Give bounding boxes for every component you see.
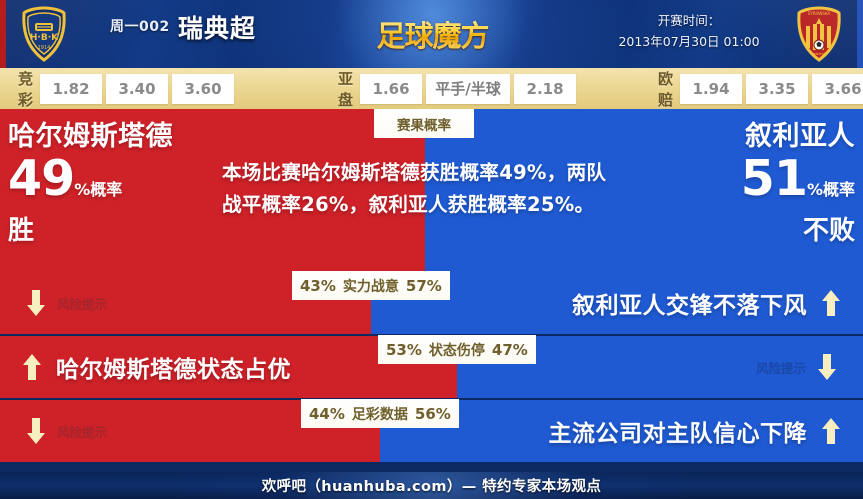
row-metric-chip: 43%实力战意57% bbox=[292, 271, 450, 300]
row-home-percent: 43% bbox=[300, 277, 336, 295]
odds-cell-asian-handicap[interactable]: 平手/半球 bbox=[426, 74, 510, 104]
odds-cell-euro-home[interactable]: 1.94 bbox=[680, 74, 742, 104]
home-outcome-label: 胜 bbox=[8, 216, 230, 247]
row-home-percent: 44% bbox=[309, 405, 345, 423]
league-name: 瑞典超 bbox=[178, 9, 256, 45]
odds-cell-asian-home[interactable]: 1.66 bbox=[360, 74, 422, 104]
home-probability-summary: 哈尔姆斯塔德 49%概率 胜 bbox=[8, 121, 230, 247]
row-risk-label: 风险提示 bbox=[57, 422, 107, 441]
footer-credit-text: 欢呼吧（huanhuba.com）— 特约专家本场观点 bbox=[262, 475, 602, 496]
home-team-name: 哈尔姆斯塔德 bbox=[8, 121, 230, 153]
home-team-crest-icon: H·B·K 1914 bbox=[14, 4, 74, 64]
away-outcome-label: 不败 bbox=[633, 216, 855, 247]
risk-arrow-down-icon bbox=[26, 288, 46, 318]
kickoff-time-value: 2013年07月30日 01:00 bbox=[596, 31, 782, 52]
away-team-crest-icon: SYRIANSKA Sodertalje bbox=[789, 4, 849, 64]
row-risk-note: 风险提示 bbox=[756, 336, 837, 398]
away-probability-summary: 叙利亚人 51%概率 不败 bbox=[633, 121, 855, 247]
away-probability-suffix: %概率 bbox=[807, 180, 855, 199]
match-round-label: 周一002 bbox=[110, 16, 170, 36]
odds-group-title: 欧赔 bbox=[658, 68, 673, 110]
home-probability-value: 49%概率 bbox=[8, 153, 230, 216]
footer-bar: 欢呼吧（huanhuba.com）— 特约专家本场观点 bbox=[0, 472, 863, 499]
odds-cell-euro-draw[interactable]: 3.35 bbox=[746, 74, 808, 104]
odds-group-asian: 亚盘 1.66 平手/半球 2.18 bbox=[338, 68, 580, 109]
row-away-percent: 47% bbox=[492, 341, 528, 359]
row-risk-note: 风险提示 bbox=[26, 400, 107, 462]
row-metric-chip: 44%足彩数据56% bbox=[301, 399, 459, 428]
row-verdict-text: 主流公司对主队信心下降 bbox=[549, 414, 808, 448]
home-probability-number: 49 bbox=[8, 150, 74, 207]
comparison-row: 53%状态伤停47%哈尔姆斯塔德状态占优风险提示 bbox=[0, 336, 863, 398]
odds-cell-jingcai-away[interactable]: 3.60 bbox=[172, 74, 234, 104]
row-away-percent: 57% bbox=[406, 277, 442, 295]
away-probability-number: 51 bbox=[741, 150, 807, 207]
row-metric-chip: 53%状态伤停47% bbox=[378, 335, 536, 364]
row-risk-note: 风险提示 bbox=[26, 272, 107, 334]
match-preview-graphic: H·B·K 1914 SYRIANSKA Sodertalje 周一00 bbox=[0, 0, 863, 499]
odds-group-euro: 欧赔 1.94 3.35 3.66 bbox=[658, 68, 863, 109]
svg-text:Sodertalje: Sodertalje bbox=[810, 52, 828, 56]
kickoff-time-label: 开赛时间： bbox=[596, 10, 782, 31]
row-risk-label: 风险提示 bbox=[57, 294, 107, 313]
comparison-rows: 43%实力战意57%叙利亚人交锋不落下风风险提示53%状态伤停47%哈尔姆斯塔德… bbox=[0, 272, 863, 472]
odds-group-title: 竞彩 bbox=[18, 68, 33, 110]
away-probability-value: 51%概率 bbox=[633, 153, 855, 216]
site-brand-text: 足球魔方 bbox=[376, 13, 488, 55]
header-left-edge bbox=[0, 0, 6, 68]
row-metric-name: 足彩数据 bbox=[352, 404, 408, 424]
row-verdict-message: 叙利亚人交锋不落下风 bbox=[572, 272, 841, 334]
risk-arrow-down-icon bbox=[26, 416, 46, 446]
band-section-chip: 赛果概率 bbox=[374, 109, 474, 138]
odds-group-jingcai: 竞彩 1.82 3.40 3.60 bbox=[18, 68, 238, 109]
odds-cell-jingcai-home[interactable]: 1.82 bbox=[40, 74, 102, 104]
probability-description: 本场比赛哈尔姆斯塔德获胜概率49%，两队战平概率26%，叙利亚人获胜概率25%。 bbox=[222, 157, 622, 221]
odds-group-title: 亚盘 bbox=[338, 68, 353, 110]
svg-text:1914: 1914 bbox=[38, 45, 51, 51]
odds-cell-jingcai-draw[interactable]: 3.40 bbox=[106, 74, 168, 104]
odds-bar: 竞彩 1.82 3.40 3.60 亚盘 1.66 平手/半球 2.18 欧赔 … bbox=[0, 68, 863, 109]
odds-cell-euro-away[interactable]: 3.66 bbox=[812, 74, 863, 104]
row-verdict-text: 叙利亚人交锋不落下风 bbox=[572, 286, 807, 320]
odds-cell-asian-away[interactable]: 2.18 bbox=[514, 74, 576, 104]
svg-text:SYRIANSKA: SYRIANSKA bbox=[808, 11, 831, 16]
risk-arrow-down-icon bbox=[817, 352, 837, 382]
site-brand-logo: 足球魔方 bbox=[360, 8, 505, 60]
row-away-percent: 56% bbox=[415, 405, 451, 423]
row-metric-name: 实力战意 bbox=[343, 276, 399, 296]
result-probability-band: 哈尔姆斯塔德 49%概率 胜 叙利亚人 51%概率 不败 本场比赛哈尔姆斯塔德获… bbox=[0, 109, 863, 272]
row-verdict-message: 主流公司对主队信心下降 bbox=[549, 400, 842, 462]
header-bar: H·B·K 1914 SYRIANSKA Sodertalje 周一00 bbox=[0, 0, 863, 68]
header-right-edge bbox=[857, 0, 863, 68]
row-risk-label: 风险提示 bbox=[756, 358, 806, 377]
away-team-name: 叙利亚人 bbox=[633, 121, 855, 153]
verdict-arrow-up-icon bbox=[821, 416, 841, 446]
comparison-row: 43%实力战意57%叙利亚人交锋不落下风风险提示 bbox=[0, 272, 863, 334]
verdict-arrow-up-icon bbox=[22, 352, 42, 382]
row-verdict-message: 哈尔姆斯塔德状态占优 bbox=[22, 336, 291, 398]
row-home-percent: 53% bbox=[386, 341, 422, 359]
row-metric-name: 状态伤停 bbox=[429, 340, 485, 360]
svg-text:H·B·K: H·B·K bbox=[30, 33, 59, 43]
home-probability-suffix: %概率 bbox=[74, 180, 122, 199]
verdict-arrow-up-icon bbox=[821, 288, 841, 318]
row-verdict-text: 哈尔姆斯塔德状态占优 bbox=[56, 350, 291, 384]
kickoff-time-block: 开赛时间： 2013年07月30日 01:00 bbox=[596, 10, 782, 52]
comparison-row: 44%足彩数据56%主流公司对主队信心下降风险提示 bbox=[0, 400, 863, 462]
